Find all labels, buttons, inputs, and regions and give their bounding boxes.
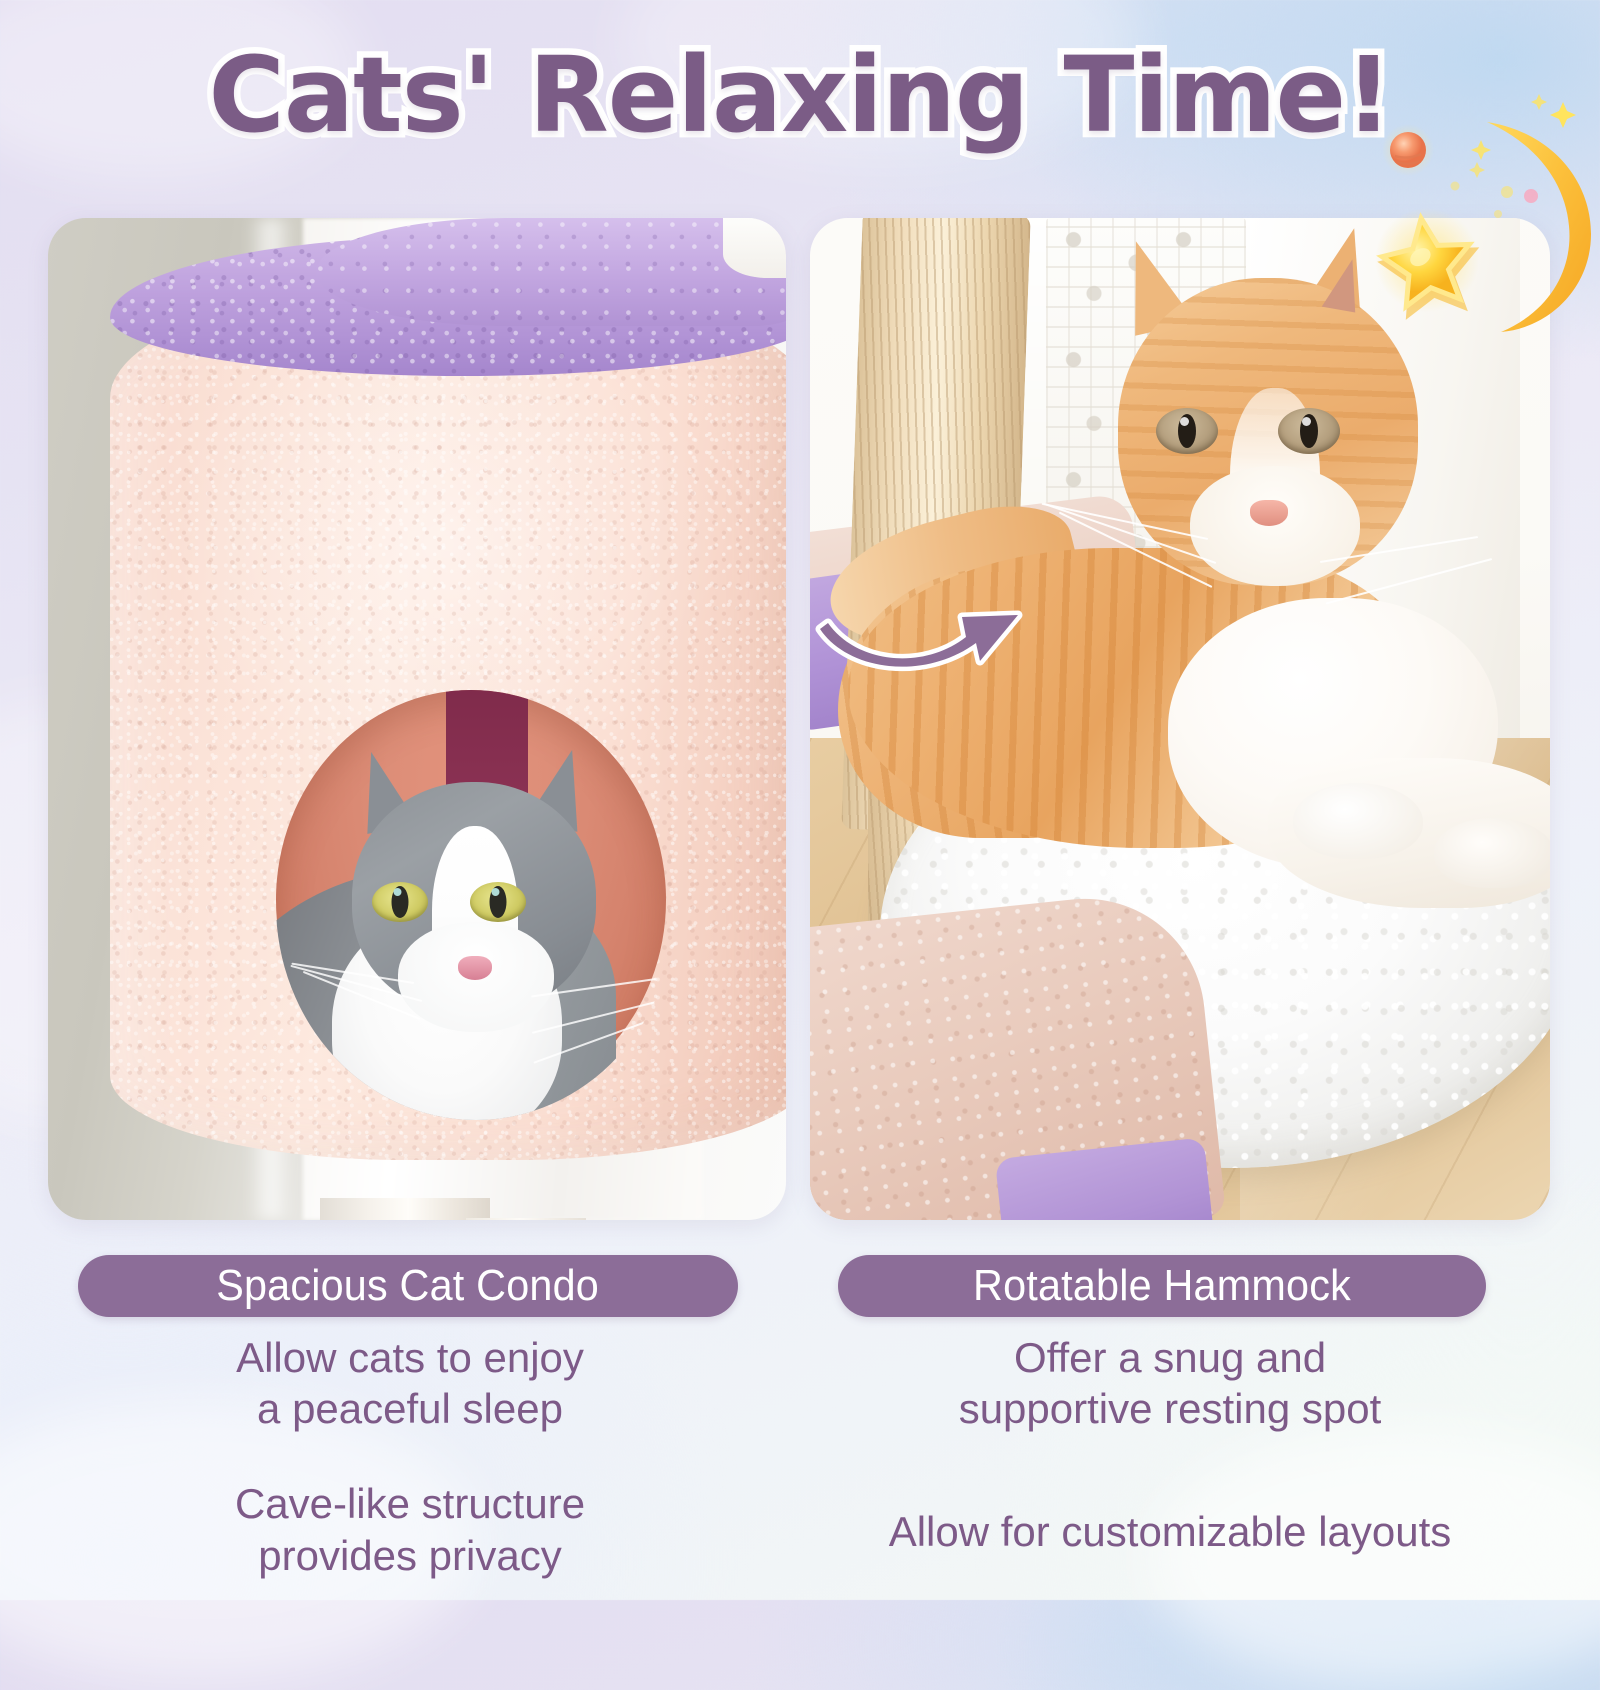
caption-block: Allow for customizable layouts: [820, 1506, 1520, 1557]
caption-line: a peaceful sleep: [60, 1383, 760, 1434]
caption-block: Allow cats to enjoy a peaceful sleep: [60, 1332, 760, 1434]
caption-column-spacious-cat-condo: Allow cats to enjoy a peaceful sleep Cav…: [60, 1332, 760, 1581]
caption-line: Offer a snug and: [820, 1332, 1520, 1383]
hammock-photo: [810, 218, 1550, 1220]
page-title: Cats' Relaxing Time!: [209, 42, 1392, 148]
rotate-arrow-annotation: [812, 575, 1042, 685]
caption-line: Allow for customizable layouts: [820, 1506, 1520, 1557]
feature-photo-row: [0, 218, 1600, 1220]
caption-line: supportive resting spot: [820, 1383, 1520, 1434]
photo-panel-rotatable-hammock[interactable]: [810, 218, 1550, 1220]
caption-line: provides privacy: [60, 1530, 760, 1581]
curved-rotate-arrow-icon: [820, 615, 1018, 667]
caption-line: Cave-like structure: [60, 1478, 760, 1529]
condo-photo: [48, 218, 786, 1220]
grey-white-cat: [276, 690, 676, 1120]
moon-star-decoration: [1355, 88, 1600, 338]
feature-pill-rotatable-hammock[interactable]: Rotatable Hammock: [838, 1255, 1486, 1317]
caption-column-rotatable-hammock: Offer a snug and supportive resting spot…: [820, 1332, 1520, 1558]
feature-pill-spacious-cat-condo[interactable]: Spacious Cat Condo: [78, 1255, 738, 1317]
crescent-moon-icon: [1487, 122, 1591, 332]
orange-tabby-kitten: [838, 218, 1550, 1178]
caption-line: Allow cats to enjoy: [60, 1332, 760, 1383]
caption-block: Offer a snug and supportive resting spot: [820, 1332, 1520, 1434]
pill-label: Spacious Cat Condo: [217, 1264, 600, 1308]
photo-panel-spacious-cat-condo[interactable]: [48, 218, 786, 1220]
caption-block: Cave-like structure provides privacy: [60, 1478, 760, 1580]
planet-icon: [1382, 124, 1434, 176]
bubble-dot-icon: [1524, 189, 1538, 203]
pill-label: Rotatable Hammock: [973, 1264, 1351, 1308]
